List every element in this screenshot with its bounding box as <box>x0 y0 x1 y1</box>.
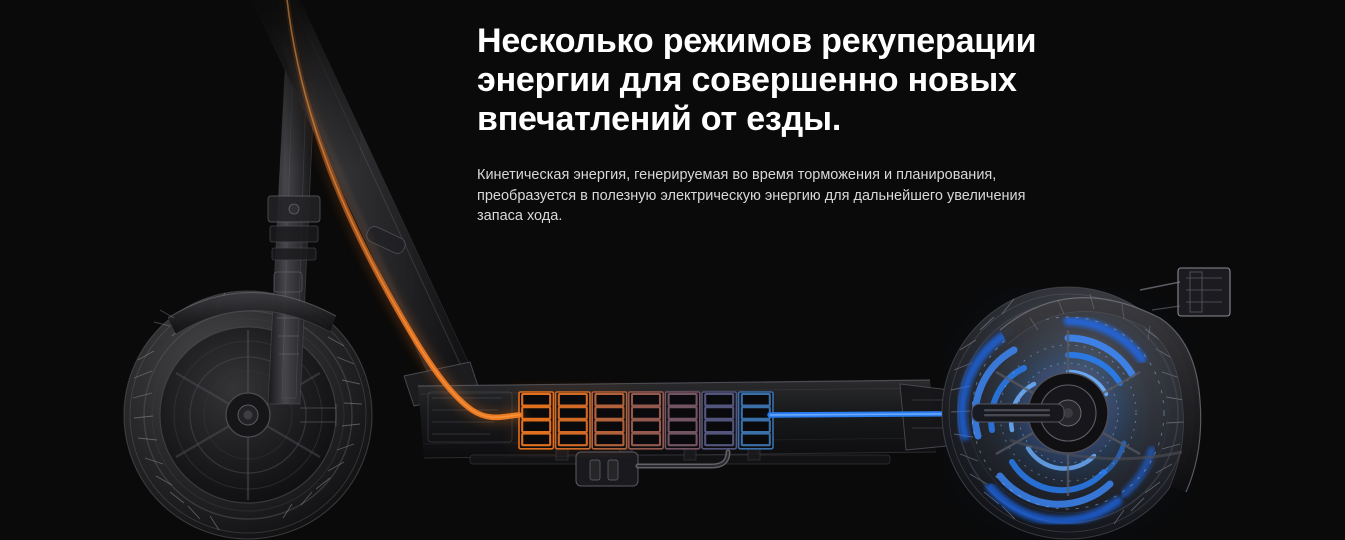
battery-cell <box>595 407 623 419</box>
battery-cell <box>705 394 733 406</box>
battery-cell <box>669 434 697 446</box>
battery-cell <box>705 420 733 432</box>
battery-cell <box>705 407 733 419</box>
headline-line-3: впечатлений от езды. <box>477 100 1057 139</box>
battery-cell <box>669 420 697 432</box>
battery-cell <box>559 434 587 446</box>
front-wheel <box>124 291 372 539</box>
copy-block: Несколько режимов рекуперации энергии дл… <box>477 22 1057 227</box>
battery-cell <box>595 420 623 432</box>
battery-cell <box>559 407 587 419</box>
battery-cell <box>742 420 770 432</box>
battery-cell <box>632 434 660 446</box>
battery-cell <box>705 434 733 446</box>
battery-cell <box>632 394 660 406</box>
battery-cell <box>669 407 697 419</box>
headline-line-1: Несколько режимов рекуперации <box>477 22 1057 61</box>
battery-cell <box>595 434 623 446</box>
battery-cell <box>559 420 587 432</box>
battery-cell <box>742 407 770 419</box>
battery-cell <box>522 394 550 406</box>
battery-cell <box>632 420 660 432</box>
battery-cell <box>522 420 550 432</box>
battery-cell <box>559 394 587 406</box>
battery-cell <box>742 394 770 406</box>
body-line-3: запаса хода. <box>477 206 1043 227</box>
battery-cell <box>632 407 660 419</box>
headline-line-2: энергии для совершенно новых <box>477 61 1057 100</box>
battery-cell <box>595 394 623 406</box>
battery-cell <box>742 434 770 446</box>
body-line-2: преобразуется в полезную электрическую э… <box>477 186 1043 207</box>
body-line-1: Кинетическая энергия, генерируемая во вр… <box>477 165 1043 186</box>
page-title: Несколько режимов рекуперации энергии дл… <box>477 22 1057 139</box>
product-banner: Несколько режимов рекуперации энергии дл… <box>0 0 1345 540</box>
body-text: Кинетическая энергия, генерируемая во вр… <box>477 139 1043 227</box>
battery-cell <box>669 394 697 406</box>
taillight-bracket <box>1140 268 1230 316</box>
battery-cell <box>522 407 550 419</box>
battery-cell <box>522 434 550 446</box>
battery-cell-grid <box>515 388 773 451</box>
